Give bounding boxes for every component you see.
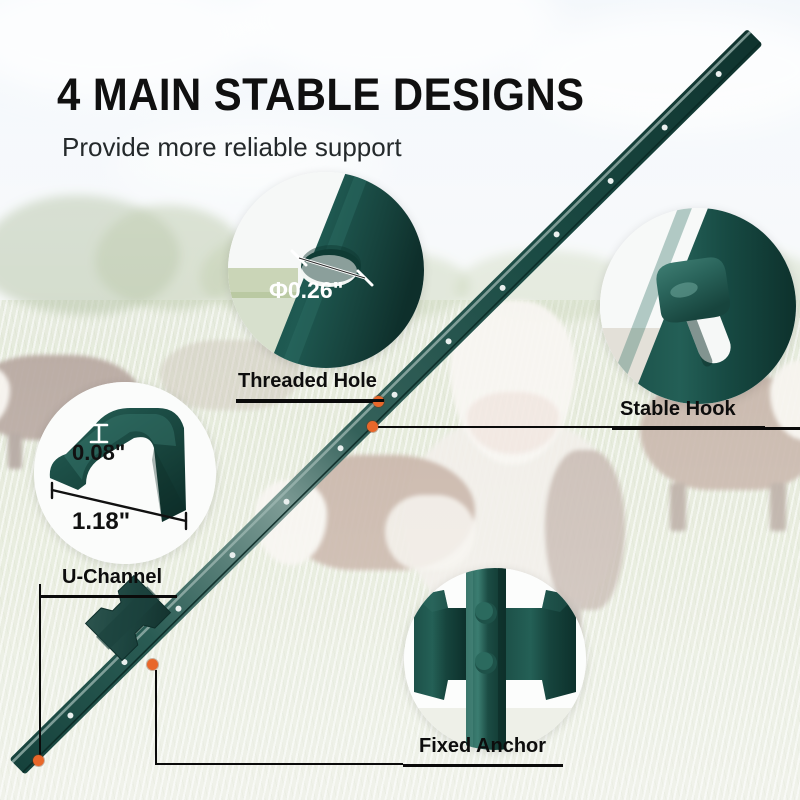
leader-line-u-channel-vertical	[39, 584, 41, 762]
leader-line-fixed-anchor-vertical	[155, 670, 157, 765]
page-subtitle: Provide more reliable support	[62, 132, 402, 163]
callout-underline-fixed-anchor	[403, 764, 563, 767]
marker-dot-u-channel	[33, 755, 44, 766]
dimension-threaded-hole: Φ0.26"	[269, 277, 344, 304]
callout-label-fixed-anchor: Fixed Anchor	[419, 735, 546, 758]
marker-dot-stable-hook	[367, 421, 378, 432]
product-infographic: 4 MAIN STABLE DESIGNS Provide more relia…	[0, 0, 800, 800]
dimension-u-channel-width: 1.18"	[72, 508, 130, 536]
leader-line-fixed-anchor-horizontal	[155, 763, 403, 765]
callout-circle-u-channel: 0.08" 1.18"	[34, 382, 216, 564]
callout-label-threaded-hole: Threaded Hole	[238, 370, 377, 393]
callout-label-stable-hook: Stable Hook	[620, 398, 736, 421]
marker-dot-fixed-anchor	[147, 659, 158, 670]
callout-underline-threaded-hole	[236, 399, 384, 402]
callout-underline-stable-hook	[612, 427, 800, 430]
callout-circle-fixed-anchor	[404, 568, 586, 750]
callout-circle-stable-hook	[600, 208, 796, 404]
callout-underline-u-channel	[39, 595, 177, 598]
callout-circle-threaded-hole: Φ0.26"	[228, 172, 424, 368]
page-title: 4 MAIN STABLE DESIGNS	[57, 72, 585, 117]
callout-label-u-channel: U-Channel	[62, 566, 162, 589]
